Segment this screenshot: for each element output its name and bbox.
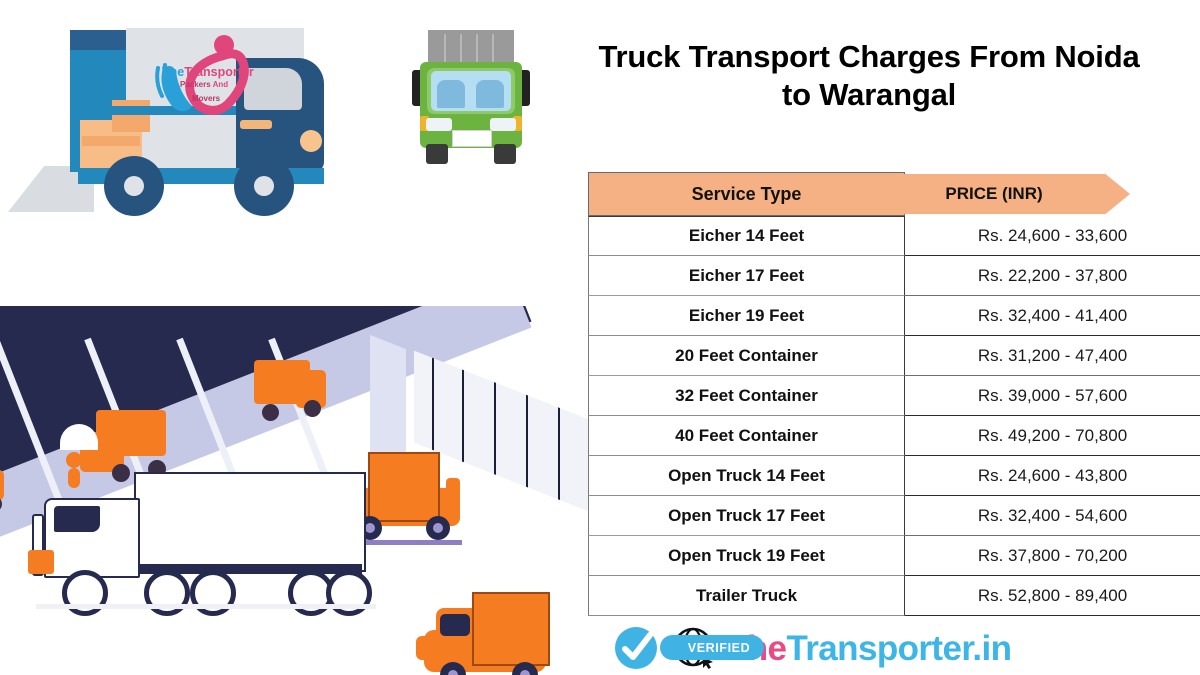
service-price: Rs. 24,600 - 43,800 <box>905 456 1200 496</box>
pricing-table-wrapper: Service Type PRICE (INR) Eicher 14 Feet … <box>588 172 1200 616</box>
semi-truck-illustration <box>26 472 371 614</box>
logo-wordmark: TheTransporter <box>162 65 254 79</box>
green-truck-seat-right-shape <box>476 80 504 108</box>
table-row[interactable]: Eicher 14 Feet Rs. 24,600 - 33,600 <box>588 216 1200 256</box>
warehouse-illustration <box>0 276 586 675</box>
green-truck-seat-left-shape <box>437 80 465 108</box>
service-price: Rs. 49,200 - 70,800 <box>905 416 1200 456</box>
service-name: Trailer Truck <box>588 576 905 616</box>
service-price: Rs. 39,000 - 57,600 <box>905 376 1200 416</box>
logo-word-transporter: Transporter <box>184 65 253 79</box>
semi-cab-window-shape <box>54 506 100 532</box>
green-truck-illustration <box>412 30 530 166</box>
service-name: 20 Feet Container <box>588 336 905 376</box>
service-price: Rs. 32,400 - 41,400 <box>905 296 1200 336</box>
table-row[interactable]: 40 Feet Container Rs. 49,200 - 70,800 <box>588 416 1200 456</box>
check-circle-icon <box>614 626 660 670</box>
service-price: Rs. 37,800 - 70,200 <box>905 536 1200 576</box>
logo-tagline-packers: Packers And <box>180 80 228 89</box>
verified-pill: VERIFIED <box>660 635 764 660</box>
semi-trailer-shape <box>134 472 366 572</box>
semi-ground-shadow-shape <box>36 604 376 609</box>
service-price: Rs. 52,800 - 89,400 <box>905 576 1200 616</box>
dock-truck-shape <box>254 360 350 438</box>
green-truck-wheel-left-shape <box>426 144 448 164</box>
footer-brand-bar: VERIFIED WWW TheTransporter.in <box>614 624 1011 672</box>
cargo-box-strip-shape <box>82 136 140 146</box>
truck-wheel-rear-shape <box>104 156 164 216</box>
table-row[interactable]: Trailer Truck Rs. 52,800 - 89,400 <box>588 576 1200 616</box>
green-truck-headlight-left-shape <box>426 118 452 131</box>
service-name: Open Truck 14 Feet <box>588 456 905 496</box>
green-truck-licence-plate-shape <box>452 130 492 147</box>
service-name: 32 Feet Container <box>588 376 905 416</box>
brand-suffix: Transporter.in <box>786 629 1011 668</box>
truck-door-handle-shape <box>240 120 272 129</box>
service-price: Rs. 31,200 - 47,400 <box>905 336 1200 376</box>
table-row[interactable]: Open Truck 14 Feet Rs. 24,600 - 43,800 <box>588 456 1200 496</box>
service-price: Rs. 24,600 - 33,600 <box>905 216 1200 256</box>
table-row[interactable]: Eicher 19 Feet Rs. 32,400 - 41,400 <box>588 296 1200 336</box>
cargo-box-small-shape <box>112 100 150 132</box>
verified-label: VERIFIED <box>674 641 750 655</box>
semi-wheel-shape <box>190 570 236 616</box>
semi-wheel-shape <box>62 570 108 616</box>
service-name: Eicher 19 Feet <box>588 296 905 336</box>
service-name: 40 Feet Container <box>588 416 905 456</box>
green-truck-headlight-right-shape <box>490 118 516 131</box>
page-title-line-1: Truck Transport Charges From Noida <box>545 38 1193 76</box>
brand-wordmark[interactable]: TheTransporter.in <box>726 631 1011 666</box>
dock-truck-shape <box>0 456 20 524</box>
service-price: Rs. 22,200 - 37,800 <box>905 256 1200 296</box>
delivery-truck-illustration: TheTransporter Packers And Movers <box>8 14 428 226</box>
verified-badge: VERIFIED <box>614 626 660 670</box>
truck-headlight-shape <box>300 130 322 152</box>
table-row[interactable]: 32 Feet Container Rs. 39,000 - 57,600 <box>588 376 1200 416</box>
table-row[interactable]: Open Truck 19 Feet Rs. 37,800 - 70,200 <box>588 536 1200 576</box>
page-title: Truck Transport Charges From Noida to Wa… <box>545 38 1193 114</box>
pricing-table-body: Service Type PRICE (INR) Eicher 14 Feet … <box>588 172 1200 616</box>
poster-canvas: TheTransporter Packers And Movers <box>0 0 1200 675</box>
service-name: Eicher 14 Feet <box>588 216 905 256</box>
page-title-line-2: to Warangal <box>545 76 1193 114</box>
column-header-price-cell: PRICE (INR) <box>905 172 1200 216</box>
service-name: Eicher 17 Feet <box>588 256 905 296</box>
pricing-table: Service Type PRICE (INR) Eicher 14 Feet … <box>588 172 1200 616</box>
service-price: Rs. 32,400 - 54,600 <box>905 496 1200 536</box>
truck-side-logo: TheTransporter Packers And Movers <box>148 32 268 118</box>
logo-tagline-movers: Movers <box>192 94 220 103</box>
table-row[interactable]: Eicher 17 Feet Rs. 22,200 - 37,800 <box>588 256 1200 296</box>
forklift-truck-lower <box>416 600 566 675</box>
service-name: Open Truck 17 Feet <box>588 496 905 536</box>
table-header-row: Service Type PRICE (INR) <box>588 172 1200 216</box>
semi-wheel-shape <box>326 570 372 616</box>
table-row[interactable]: 20 Feet Container Rs. 31,200 - 47,400 <box>588 336 1200 376</box>
green-truck-wheel-right-shape <box>494 144 516 164</box>
column-header-price: PRICE (INR) <box>858 174 1130 214</box>
semi-hood-accent-shape <box>28 550 54 574</box>
semi-wheel-shape <box>144 570 190 616</box>
logo-word-the: The <box>162 65 184 79</box>
truck-wheel-front-shape <box>234 156 294 216</box>
service-name: Open Truck 19 Feet <box>588 536 905 576</box>
table-row[interactable]: Open Truck 17 Feet Rs. 32,400 - 54,600 <box>588 496 1200 536</box>
column-header-service: Service Type <box>588 172 905 216</box>
